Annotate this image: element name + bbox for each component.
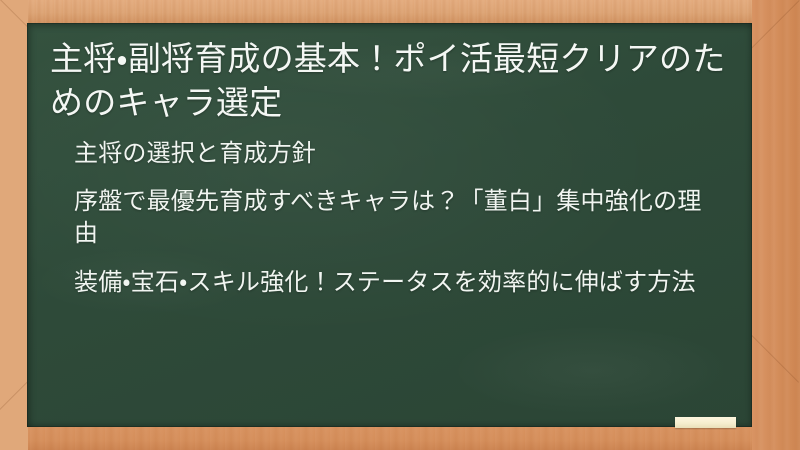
chalkboard-content: 主将・副将育成の基本！ポイ活最短クリアのためのキャラ選定 主将の選択と育成方針 … <box>27 23 752 427</box>
list-item: 装備・宝石・スキル強化！ステータスを効率的に伸ばす方法 <box>74 267 730 299</box>
page-title: 主将・副将育成の基本！ポイ活最短クリアのためのキャラ選定 <box>50 37 730 124</box>
frame-rail-top <box>0 0 800 23</box>
chalk-stick-icon <box>675 417 736 428</box>
list-item: 主将の選択と育成方針 <box>74 138 730 170</box>
frame-rail-bottom <box>0 426 800 450</box>
list-item: 序盤で最優先育成すべきキャラは？「董白」集中強化の理由 <box>74 186 730 250</box>
chalkboard-surface: 主将・副将育成の基本！ポイ活最短クリアのためのキャラ選定 主将の選択と育成方針 … <box>27 23 752 427</box>
outline-list: 主将の選択と育成方針 序盤で最優先育成すべきキャラは？「董白」集中強化の理由 装… <box>50 138 730 299</box>
frame-rail-right <box>752 0 800 450</box>
chalkboard-slide: 主将・副将育成の基本！ポイ活最短クリアのためのキャラ選定 主将の選択と育成方針 … <box>0 0 800 450</box>
frame-rail-left <box>0 0 28 450</box>
